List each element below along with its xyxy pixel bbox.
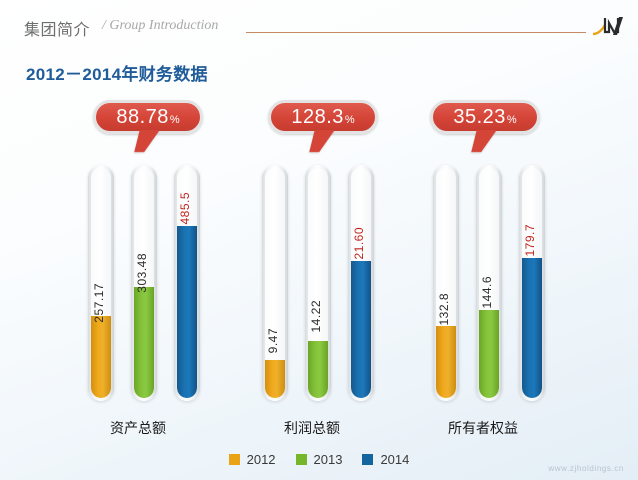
- growth-badge-tail: [309, 130, 334, 152]
- legend-item-2014: 2014: [362, 452, 409, 467]
- bar-value-2012-profit: 9.47: [266, 328, 280, 353]
- growth-badge-value: 35.23: [453, 106, 506, 129]
- category-label-profit: 利润总额: [252, 418, 372, 438]
- growth-badge: 128.3 %: [268, 100, 378, 134]
- bar-fill-2014: [351, 261, 371, 398]
- growth-badge-tail: [471, 130, 496, 152]
- tube-inner: [265, 168, 285, 398]
- bar-fill-2013: [308, 341, 328, 398]
- legend-label: 2014: [380, 452, 409, 467]
- bar-tube-2012-profit: [262, 165, 288, 401]
- chart-legend: 2012 2013 2014: [0, 452, 638, 467]
- bar-fill-2013: [134, 287, 154, 398]
- growth-badge: 88.78 %: [93, 100, 203, 134]
- footer-website-url: www.zjholdings.cn: [548, 464, 624, 473]
- legend-label: 2013: [314, 452, 343, 467]
- growth-badge-group-2: 128.3 %: [268, 100, 378, 134]
- bar-value-2014-profit: 21.60: [352, 227, 366, 260]
- bar-value-2013-profit: 14.22: [309, 300, 323, 333]
- legend-swatch-icon: [229, 454, 240, 465]
- bar-tube-2013-profit: [305, 165, 331, 401]
- tube-inner: [308, 168, 328, 398]
- growth-badge-unit: %: [170, 114, 180, 126]
- bar-fill-2013: [479, 310, 499, 398]
- bar-value-2013-equity: 144.6: [480, 276, 494, 309]
- growth-badge-value: 128.3: [291, 106, 344, 129]
- tube-inner: [436, 168, 456, 398]
- legend-swatch-icon: [296, 454, 307, 465]
- legend-item-2013: 2013: [296, 452, 343, 467]
- growth-badge-unit: %: [507, 114, 517, 126]
- tube-inner: [351, 168, 371, 398]
- growth-badge-group-1: 88.78 %: [93, 100, 203, 134]
- legend-item-2012: 2012: [229, 452, 276, 467]
- bar-fill-2012: [91, 316, 111, 398]
- legend-label: 2012: [247, 452, 276, 467]
- bar-fill-2012: [436, 326, 456, 398]
- legend-swatch-icon: [362, 454, 373, 465]
- category-label-equity: 所有者权益: [423, 418, 543, 438]
- bar-value-2012-equity: 132.8: [437, 293, 451, 326]
- category-label-assets: 资产总额: [78, 418, 198, 438]
- bar-fill-2014: [177, 226, 197, 398]
- bar-fill-2012: [265, 360, 285, 398]
- bar-fill-2014: [522, 258, 542, 398]
- bar-tube-2014-equity: [519, 165, 545, 401]
- growth-badge-group-3: 35.23 %: [430, 100, 540, 134]
- tube-inner: [522, 168, 542, 398]
- bar-value-2014-equity: 179.7: [523, 224, 537, 257]
- growth-badge-unit: %: [345, 114, 355, 126]
- growth-badge: 35.23 %: [430, 100, 540, 134]
- bar-value-2013-assets: 303.48: [135, 253, 149, 293]
- growth-badge-value: 88.78: [116, 106, 169, 129]
- bar-value-2012-assets: 257.17: [92, 283, 106, 323]
- bar-value-2014-assets: 485.5: [178, 192, 192, 225]
- bar-tube-2012-equity: [433, 165, 459, 401]
- financial-bar-chart: 88.78 % 128.3 % 35.23 % 257.17 303.48: [0, 0, 638, 480]
- growth-badge-tail: [134, 130, 159, 152]
- bar-tube-2014-profit: [348, 165, 374, 401]
